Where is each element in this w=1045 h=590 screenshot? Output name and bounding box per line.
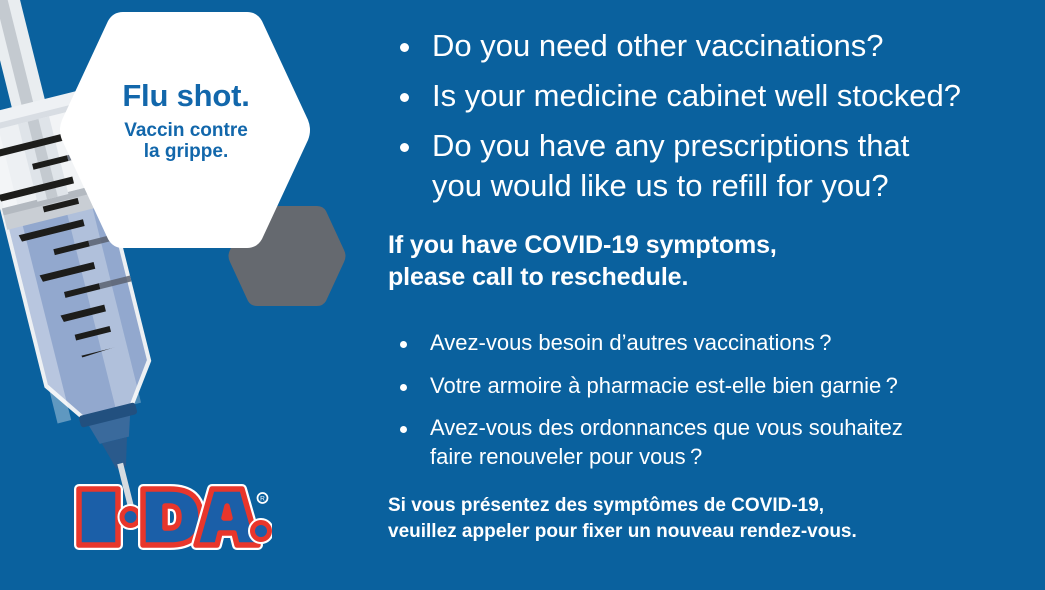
list-item: Votre armoire à pharmacie est-elle bien … <box>388 372 1028 401</box>
english-bullet-3-line1: Do you have any prescriptions that <box>432 128 909 163</box>
list-item: Do you have any prescriptions that you w… <box>388 126 1028 206</box>
badge-title: Flu shot. <box>81 80 291 113</box>
bullet-dot-icon <box>400 43 409 52</box>
french-bullet-3-line2: faire renouveler pour vous ? <box>430 444 702 469</box>
ida-logo-dot-1 <box>122 509 139 526</box>
french-bullet-3-line1: Avez-vous des ordonnances que vous souha… <box>430 415 903 440</box>
french-covid-line2: veuillez appeler pour fixer un nouveau r… <box>388 519 1028 544</box>
english-bullet-2: Is your medicine cabinet well stocked? <box>432 78 961 113</box>
english-covid-notice: If you have COVID-19 symptoms, please ca… <box>388 229 1028 294</box>
badge-text-block: Flu shot. Vaccin contre la grippe. <box>81 80 291 162</box>
list-item: Do you need other vaccinations? <box>388 26 1028 66</box>
ida-logo-letter-i <box>79 489 118 545</box>
registered-trademark-glyph: R <box>260 496 265 503</box>
list-item: Avez-vous besoin d’autres vaccinations ? <box>388 329 1028 358</box>
ida-logo-dot-3 <box>253 523 270 540</box>
bullet-dot-icon <box>400 384 407 391</box>
english-covid-line1: If you have COVID-19 symptoms, <box>388 229 1028 262</box>
french-covid-notice: Si vous présentez des symptômes de COVID… <box>388 493 1028 544</box>
french-bullet-2: Votre armoire à pharmacie est-elle bien … <box>430 373 898 398</box>
badge-subtitle: Vaccin contre la grippe. <box>81 120 291 163</box>
french-covid-line1: Si vous présentez des symptômes de COVID… <box>388 493 1028 518</box>
english-bullet-list: Do you need other vaccinations? Is your … <box>388 26 1028 206</box>
english-bullet-1: Do you need other vaccinations? <box>432 28 884 63</box>
list-item: Avez-vous des ordonnances que vous souha… <box>388 414 1028 471</box>
bullet-dot-icon <box>400 143 409 152</box>
english-covid-line2: please call to reschedule. <box>388 261 1028 294</box>
bullet-dot-icon <box>400 341 407 348</box>
badge-subtitle-line2: la grippe. <box>81 141 291 162</box>
french-bullet-list: Avez-vous besoin d’autres vaccinations ?… <box>388 329 1028 471</box>
badge-subtitle-line1: Vaccin contre <box>81 120 291 141</box>
list-item: Is your medicine cabinet well stocked? <box>388 76 1028 116</box>
message-column: Do you need other vaccinations? Is your … <box>388 26 1028 544</box>
ida-logo-letter-a <box>196 489 258 545</box>
bullet-dot-icon <box>400 426 407 433</box>
english-bullet-3-line2: you would like us to refill for you? <box>432 168 889 203</box>
ida-logo-letter-d <box>143 489 201 545</box>
flu-shot-poster: Flu shot. Vaccin contre la grippe. <box>0 0 1045 590</box>
flu-shot-badge: Flu shot. Vaccin contre la grippe. <box>55 8 375 298</box>
ida-logo: R <box>72 482 272 552</box>
bullet-dot-icon <box>400 93 409 102</box>
french-bullet-1: Avez-vous besoin d’autres vaccinations ? <box>430 330 831 355</box>
